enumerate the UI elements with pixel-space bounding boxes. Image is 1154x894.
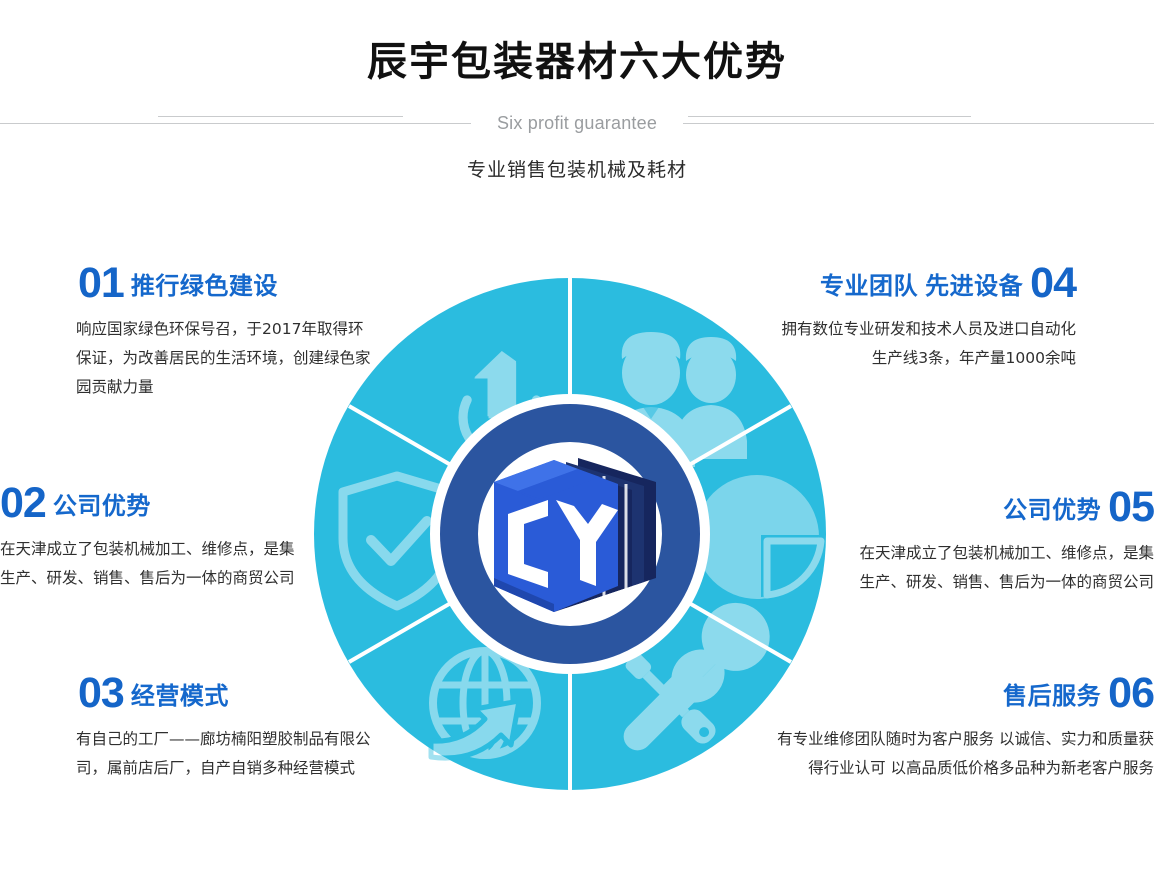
item-03-body: 有自己的工厂——廊坊楠阳塑胶制品有限公司，属前店后厂，自产自销多种经营模式: [76, 725, 384, 783]
item-03-heading: 03 经营模式: [76, 668, 384, 725]
advantage-item-02: 02 公司优势 在天津成立了包装机械加工、维修点，是集生产、研发、销售、售后为一…: [0, 478, 300, 593]
item-05-label: 公司优势: [1003, 486, 1101, 536]
item-05-number: 05: [1108, 482, 1154, 532]
item-02-heading: 02 公司优势: [0, 478, 300, 535]
item-06-body: 有专业维修团队随时为客户服务 以诚信、实力和质量获得行业认可 以高品质低价格多品…: [776, 725, 1154, 783]
item-03-label: 经营模式: [131, 672, 229, 722]
advantage-item-05: 公司优势 05 在天津成立了包装机械加工、维修点，是集生产、研发、销售、售后为一…: [856, 482, 1154, 597]
subtitle-english: Six profit guarantee: [471, 109, 683, 137]
item-04-label: 专业团队 先进设备: [820, 262, 1023, 312]
subtitle-chinese: 专业销售包装机械及耗材: [0, 155, 1154, 182]
item-05-body: 在天津成立了包装机械加工、维修点，是集生产、研发、销售、售后为一体的商贸公司: [856, 539, 1154, 597]
advantage-item-01: 01 推行绿色建设 响应国家绿色环保号召，于2017年取得环保证，为改善居民的生…: [76, 258, 376, 402]
item-04-heading: 专业团队 先进设备 04: [776, 258, 1076, 315]
item-05-heading: 公司优势 05: [856, 482, 1154, 539]
item-01-label: 推行绿色建设: [131, 262, 278, 312]
page-title: 辰宇包装器材六大优势: [0, 36, 1154, 88]
item-02-label: 公司优势: [53, 482, 151, 532]
item-01-body: 响应国家绿色环保号召，于2017年取得环保证，为改善居民的生活环境，创建绿色家园…: [76, 315, 376, 402]
item-04-number: 04: [1030, 258, 1076, 308]
item-06-label: 售后服务: [1003, 672, 1101, 722]
header-banner: 辰宇包装器材六大优势 Six profit guarantee 专业销售包装机械…: [0, 0, 1154, 200]
advantage-item-04: 专业团队 先进设备 04 拥有数位专业研发和技术人员及进口自动化生产线3条，年产…: [776, 258, 1076, 373]
advantage-item-03: 03 经营模式 有自己的工厂——廊坊楠阳塑胶制品有限公司，属前店后厂，自产自销多…: [76, 668, 384, 783]
item-06-number: 06: [1108, 668, 1154, 718]
item-04-body: 拥有数位专业研发和技术人员及进口自动化生产线3条，年产量1000余吨: [776, 315, 1076, 373]
item-02-body: 在天津成立了包装机械加工、维修点，是集生产、研发、销售、售后为一体的商贸公司: [0, 535, 300, 593]
item-02-number: 02: [0, 478, 46, 528]
six-advantage-wheel: [313, 277, 827, 791]
item-01-heading: 01 推行绿色建设: [76, 258, 376, 315]
advantage-item-06: 售后服务 06 有专业维修团队随时为客户服务 以诚信、实力和质量获得行业认可 以…: [776, 668, 1154, 783]
item-06-heading: 售后服务 06: [776, 668, 1154, 725]
subtitle-english-wrap: Six profit guarantee: [0, 109, 1154, 137]
item-01-number: 01: [78, 258, 124, 308]
item-03-number: 03: [78, 668, 124, 718]
wheel-graphic: [313, 277, 827, 791]
